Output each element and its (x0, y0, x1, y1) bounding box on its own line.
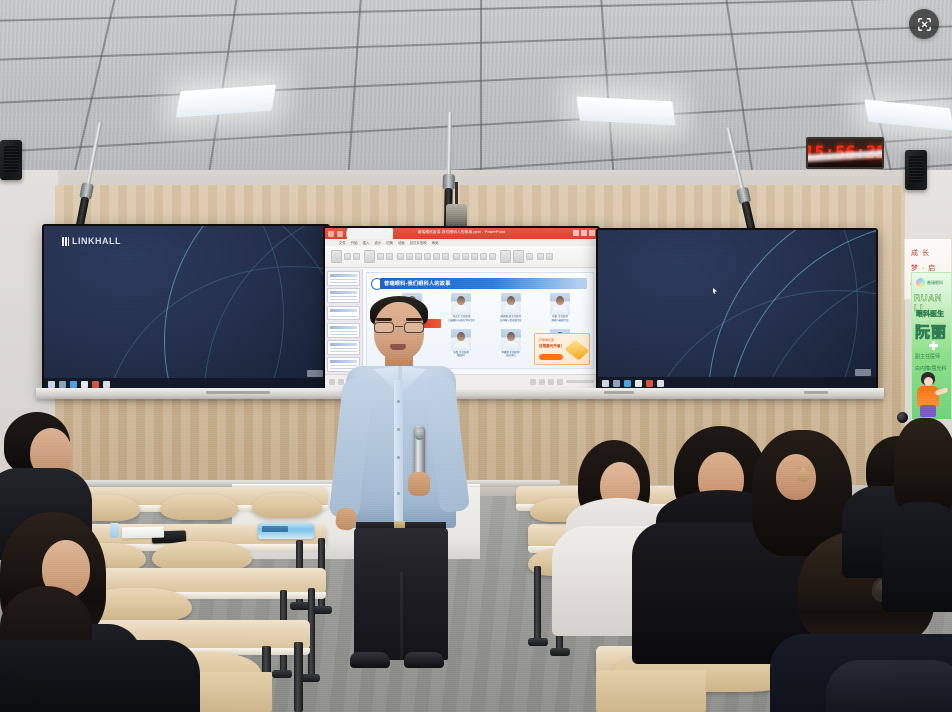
taskbar-icon-start[interactable] (48, 381, 55, 388)
promo-line2: 近视激光升级！ (539, 344, 564, 349)
teddy-bear-hair-clip (796, 468, 811, 482)
minimize-icon[interactable] (573, 230, 579, 236)
banner-role: 眼科医生 (916, 309, 944, 319)
view-sorter-icon[interactable] (539, 379, 545, 385)
display-left[interactable]: LINKHALL (42, 224, 330, 392)
portrait-photo (550, 293, 570, 315)
desk-foot (300, 674, 320, 682)
display-brand-logo-left: LINKHALL (62, 236, 121, 246)
banner-illustration (914, 369, 951, 417)
ribbon-group-slides[interactable] (364, 250, 393, 263)
desk-foot (550, 648, 570, 656)
ribbon-tab-0[interactable]: 文件 (339, 240, 346, 245)
slide-person-3: 徐群 主任医师 斜视与弱视主任 (538, 293, 584, 327)
expand-fullscreen-icon (916, 16, 933, 33)
system-tray-right[interactable] (855, 369, 871, 376)
taskbar-icon-search[interactable] (613, 380, 620, 387)
ribbon-toolbar[interactable] (325, 246, 598, 268)
doctor-standee-banner: 普瑞眼科 RUAN LI 眼科医生 阮丽 副主任医师 白内障/屈光科 (911, 272, 952, 420)
presenter-brow-left (376, 318, 392, 321)
ribbon-group-clipboard[interactable] (331, 250, 360, 263)
desk-leg (534, 566, 541, 644)
led-clock: 15:56:25 (806, 137, 884, 169)
presenter-mouth (390, 344, 406, 350)
taskbar-icon-app1[interactable] (635, 380, 642, 387)
slide-person-2: 杨倩丽 副主任医师 白内障与青光眼主任 (488, 293, 534, 327)
maximize-icon[interactable] (581, 230, 587, 236)
ribbon-tab-6[interactable]: 幻灯片放映 (410, 240, 427, 245)
student-right-2 (826, 660, 952, 712)
banner-logo-text: 普瑞眼科 (927, 280, 943, 286)
powerpoint-title-bar[interactable]: 普瑞眼科宣讲-我们眼科人的故事.pptx - PowerPoint (325, 228, 598, 239)
desk-foot (290, 602, 310, 610)
portrait-photo (501, 329, 521, 351)
save-icon[interactable] (328, 231, 334, 237)
ribbon-tab-5[interactable]: 动画 (398, 240, 405, 245)
ribbon-group-paragraph[interactable] (453, 253, 496, 260)
brand-mark-icon (62, 237, 69, 246)
banner-doctor-name: 阮丽 (915, 321, 947, 342)
ribbon-tab-1[interactable]: 开始 (351, 240, 358, 245)
taskbar-icon-app2[interactable] (92, 381, 99, 388)
clinic-logo-icon (916, 278, 925, 287)
taskbar-icon-app3[interactable] (657, 380, 664, 387)
wall-speaker-left (0, 140, 22, 180)
promo-line1: 开学季优惠 (539, 338, 554, 342)
desk-foot (528, 638, 548, 646)
display-right[interactable] (596, 228, 878, 391)
desk-foot (312, 606, 332, 614)
system-tray-left[interactable] (307, 370, 323, 377)
desk-leg (294, 642, 303, 712)
student-back-left-3 (0, 600, 200, 712)
slide-heading-text: 普瑞眼科-我们眼科人的故事 (384, 280, 451, 287)
view-normal-icon[interactable] (530, 379, 536, 385)
powerpoint-document-title: 普瑞眼科宣讲-我们眼科人的故事.pptx - PowerPoint (418, 230, 505, 235)
ribbon-group-drawing[interactable] (500, 250, 533, 263)
student-far-right (890, 418, 952, 598)
ribbon-group-font[interactable] (397, 253, 449, 260)
seat-row1-b (160, 494, 238, 520)
ribbon-tab-7[interactable]: 审阅 (432, 240, 439, 245)
wallpaper-right (598, 230, 876, 389)
student-body (826, 660, 952, 712)
taskbar-icon-start[interactable] (602, 380, 609, 387)
presenter-trousers (354, 528, 448, 660)
poster-line1: 成 长 (911, 248, 930, 258)
desk-foot (272, 670, 292, 678)
ceiling-light-center (576, 96, 675, 125)
promo-cta-button[interactable] (539, 354, 563, 360)
taskbar-icon-app2[interactable] (646, 380, 653, 387)
taskbar-icon-explorer[interactable] (624, 380, 631, 387)
taskbar-icon-app3[interactable] (103, 381, 110, 388)
wall-speaker-right (905, 150, 927, 190)
classroom-camera (446, 204, 467, 228)
pencil-case-on-desk (258, 523, 314, 539)
person-line2: 屈光中心 (506, 356, 516, 359)
presenter-shoe-left (350, 652, 390, 668)
student-body (0, 640, 200, 712)
ribbon-group-editing[interactable] (537, 253, 553, 260)
undo-icon[interactable] (337, 231, 343, 237)
window-controls[interactable] (573, 230, 595, 236)
portrait-photo (501, 293, 521, 315)
taskbar-icon-explorer[interactable] (70, 381, 77, 388)
person-line2: 白内障与青光眼主任 (500, 320, 522, 323)
promo-popup[interactable]: 开学季优惠 近视激光升级！ (534, 333, 590, 365)
slide-title-bar: 普瑞眼科-我们眼科人的故事 (380, 278, 587, 289)
student-body (882, 502, 952, 612)
zoom-slider[interactable] (566, 380, 594, 383)
person-line2: 斜视与弱视主任 (552, 320, 569, 323)
presenter-brow-right (406, 318, 422, 321)
seat-row3-b (152, 541, 252, 571)
view-slideshow-icon[interactable] (557, 379, 563, 385)
brand-name-left: LINKHALL (72, 236, 121, 246)
ribbon-tab-2[interactable]: 插入 (363, 240, 370, 245)
taskbar-icon-app1[interactable] (81, 381, 88, 388)
slide-thumbnail[interactable] (327, 271, 360, 286)
promo-gold-graphic (565, 340, 590, 361)
ribbon-tab-4[interactable]: 切换 (386, 240, 393, 245)
banner-logo: 普瑞眼科 (916, 278, 943, 287)
presenter (330, 296, 470, 668)
view-reading-icon[interactable] (548, 379, 554, 385)
banner-sub1: 副主任医师 (915, 353, 940, 360)
wallpaper-left (44, 226, 328, 390)
ribbon-tab-strip[interactable]: 文件 开始 插入 设计 切换 动画 幻灯片放映 审阅 (325, 239, 598, 246)
close-icon[interactable] (589, 230, 595, 236)
fullscreen-button[interactable] (909, 9, 939, 39)
taskbar-icon-search[interactable] (59, 381, 66, 388)
presenter-hand-right (408, 472, 430, 496)
presenter-shoe-right (404, 652, 444, 668)
medical-cross-icon (929, 341, 938, 350)
glasses-icon (373, 322, 425, 333)
classroom-photo: 15:56:25 LINKHALL (0, 0, 952, 712)
ribbon-tab-3[interactable]: 设计 (374, 240, 381, 245)
seat-row1-c (252, 493, 322, 518)
ppt-file-tab[interactable] (347, 228, 393, 239)
slide-person-5: 李雅丽 主治医师 屈光中心 (488, 329, 534, 363)
